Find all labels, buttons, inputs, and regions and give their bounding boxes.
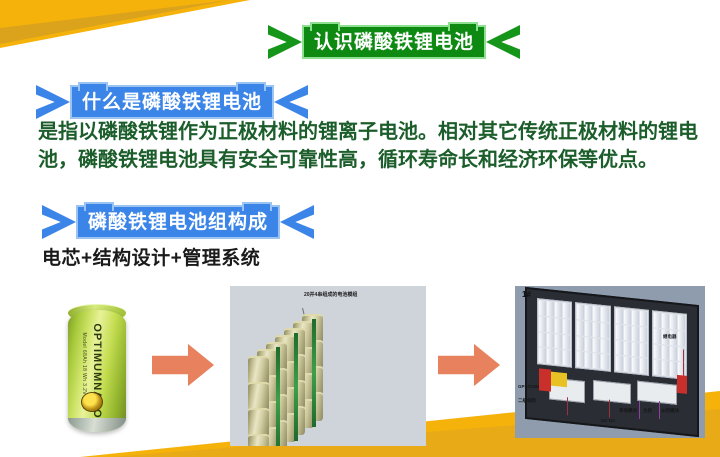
pack-cell <box>539 300 546 315</box>
section1-ribbon-panel: 什么是磷酸铁锂电池 <box>70 85 274 119</box>
pack-cell <box>563 350 570 365</box>
pack-label: 继电器 <box>663 334 677 340</box>
pack-cell <box>670 361 677 376</box>
section2-ribbon: 磷酸铁锂电池组构成 <box>42 205 314 239</box>
pack-label: 从控模块 <box>661 408 679 414</box>
pack-cell <box>547 348 554 363</box>
ribbon-left-wing-icon <box>42 205 76 239</box>
pack-cell <box>624 325 631 340</box>
pack-cell <box>616 324 623 339</box>
pack-cell <box>601 338 608 353</box>
pack-label: GPS/GSM <box>518 384 539 389</box>
pack-cell <box>624 309 631 324</box>
pack-cell <box>593 306 600 321</box>
pack-cell-bank <box>537 298 572 368</box>
pack-id-label: 1# <box>522 290 531 299</box>
pack-cell <box>555 334 562 349</box>
module-strap <box>276 347 280 446</box>
section2-ribbon-panel: 磷酸铁锂电池组构成 <box>76 205 280 239</box>
arrow-right-icon <box>152 342 214 388</box>
ribbon-right-wing-icon <box>274 85 308 119</box>
pack-cell <box>632 357 639 372</box>
ribbon-left-wing-icon <box>36 85 70 119</box>
pack-cell <box>670 346 677 361</box>
pack-cell <box>632 310 639 325</box>
pack-cell <box>654 360 661 375</box>
pack-cell <box>577 336 584 351</box>
pack-component <box>593 380 631 404</box>
pack-label: 二级保险 <box>518 398 536 404</box>
pack-cell <box>640 342 647 357</box>
pack-cell <box>632 342 639 357</box>
pack-cell <box>547 317 554 332</box>
pack-cell <box>662 345 669 360</box>
title-ribbon-panel: 认识磷酸铁锂电池 <box>302 25 486 59</box>
pack-cell <box>601 354 608 369</box>
pack-cell <box>601 307 608 322</box>
ribbon-tab-right-icon <box>448 22 478 31</box>
cell-logo-icon <box>81 392 103 412</box>
title-ribbon: 认识磷酸铁锂电池 <box>268 25 520 59</box>
pack-cell <box>640 358 647 373</box>
pack-cell <box>632 326 639 341</box>
pack-cell <box>547 333 554 348</box>
module-cell <box>248 382 269 411</box>
pack-label: 带电模块 <box>619 408 637 414</box>
pack-cell <box>555 349 562 364</box>
pack-component-red <box>677 375 687 394</box>
module-cell <box>248 356 269 385</box>
pack-cell <box>654 344 661 359</box>
ribbon-tab-right-icon <box>242 202 272 211</box>
pack-lead-line <box>639 401 640 419</box>
pack-cell-bank <box>575 302 610 372</box>
pack-cell-bank <box>652 310 687 380</box>
pack-cell <box>563 303 570 318</box>
pack-cell <box>563 334 570 349</box>
section1-ribbon: 什么是磷酸铁锂电池 <box>36 85 308 119</box>
figure-battery-module: 20并4串组成的电池模组 <box>230 286 426 446</box>
title-ribbon-label: 认识磷酸铁锂电池 <box>314 33 474 52</box>
pack-lead-line <box>567 397 568 415</box>
pack-cell <box>577 352 584 367</box>
pack-cell <box>616 308 623 323</box>
pack-cell <box>585 321 592 336</box>
ribbon-tab-left-icon <box>78 82 108 91</box>
pack-cell <box>624 356 631 371</box>
ribbon-tab-left-icon <box>310 22 340 31</box>
pack-cell <box>585 337 592 352</box>
slide-canvas: 认识磷酸铁锂电池 什么是磷酸铁锂电池 是指以磷酸铁锂作为正极材料的锂离子电池。相… <box>0 0 720 457</box>
figure-battery-pack: 1# 继电器 GPS/GSM 二级保险 DC-DC 带电模块 主控 从控模块 <box>515 286 705 438</box>
pack-cell <box>616 340 623 355</box>
pack-cell <box>678 331 685 346</box>
pack-cell <box>539 332 546 347</box>
section1-body-text: 是指以磷酸铁锂作为正极材料的锂离子电池。相对其它传统正极材料的锂电池，磷酸铁锂电… <box>38 118 698 174</box>
pack-cell <box>670 314 677 329</box>
pack-lead-line <box>659 401 660 419</box>
pack-cell <box>640 327 647 342</box>
ribbon-right-wing-icon <box>280 205 314 239</box>
pack-cell <box>654 312 661 327</box>
pack-component-red <box>539 368 551 391</box>
ribbon-tab-right-icon <box>236 82 266 91</box>
pack-cell <box>601 323 608 338</box>
ribbon-tab-left-icon <box>84 202 114 211</box>
pack-cell <box>577 320 584 335</box>
pack-cell-bank <box>614 306 649 376</box>
section1-ribbon-label: 什么是磷酸铁锂电池 <box>82 93 262 112</box>
pack-cell <box>662 360 669 375</box>
pack-cell <box>539 348 546 363</box>
pack-component <box>637 381 677 405</box>
pack-cell <box>654 328 661 343</box>
pack-cell <box>624 341 631 356</box>
module-cell-stack <box>248 316 410 434</box>
module-cell <box>248 408 269 437</box>
pack-cell <box>585 305 592 320</box>
figure-row: OPTIMUMNANO Model 68Ah 18 Wh 3.2V 2000 2… <box>0 282 720 452</box>
cell-body: OPTIMUMNANO Model 68Ah 18 Wh 3.2V 2000 <box>68 310 126 432</box>
ribbon-left-wing-icon <box>268 25 302 59</box>
section2-ribbon-label: 磷酸铁锂电池组构成 <box>88 213 268 232</box>
pack-cell <box>555 318 562 333</box>
pack-cell <box>616 356 623 371</box>
pack-cell <box>563 319 570 334</box>
pack-cell <box>593 322 600 337</box>
module-strap <box>294 333 298 441</box>
pack-component-yellow <box>551 372 567 388</box>
pack-lead-line <box>609 400 610 418</box>
pack-cell <box>585 352 592 367</box>
ribbon-right-wing-icon <box>486 25 520 59</box>
cell-bottom-band <box>68 418 126 432</box>
pack-cell <box>593 353 600 368</box>
module-cell <box>248 434 269 446</box>
pack-cell <box>555 302 562 317</box>
figure-battery-cell: OPTIMUMNANO Model 68Ah 18 Wh 3.2V 2000 <box>62 302 134 438</box>
module-strap <box>312 319 316 427</box>
section2-body-text: 电芯+结构设计+管理系统 <box>42 243 260 270</box>
pack-cell <box>640 311 647 326</box>
pack-cell <box>593 338 600 353</box>
pack-cell <box>662 313 669 328</box>
arrow-right-icon <box>438 342 500 388</box>
pack-cell <box>539 316 546 331</box>
module-callout-label: 20并4串组成的电池模组 <box>304 291 357 298</box>
pack-cell <box>547 301 554 316</box>
pack-label: DC-DC <box>601 418 616 423</box>
pack-cell <box>678 315 685 330</box>
pack-cell <box>577 304 584 319</box>
pack-label: 主控 <box>643 408 652 414</box>
pack-lead-line <box>683 349 684 375</box>
pack-tray <box>525 287 699 437</box>
